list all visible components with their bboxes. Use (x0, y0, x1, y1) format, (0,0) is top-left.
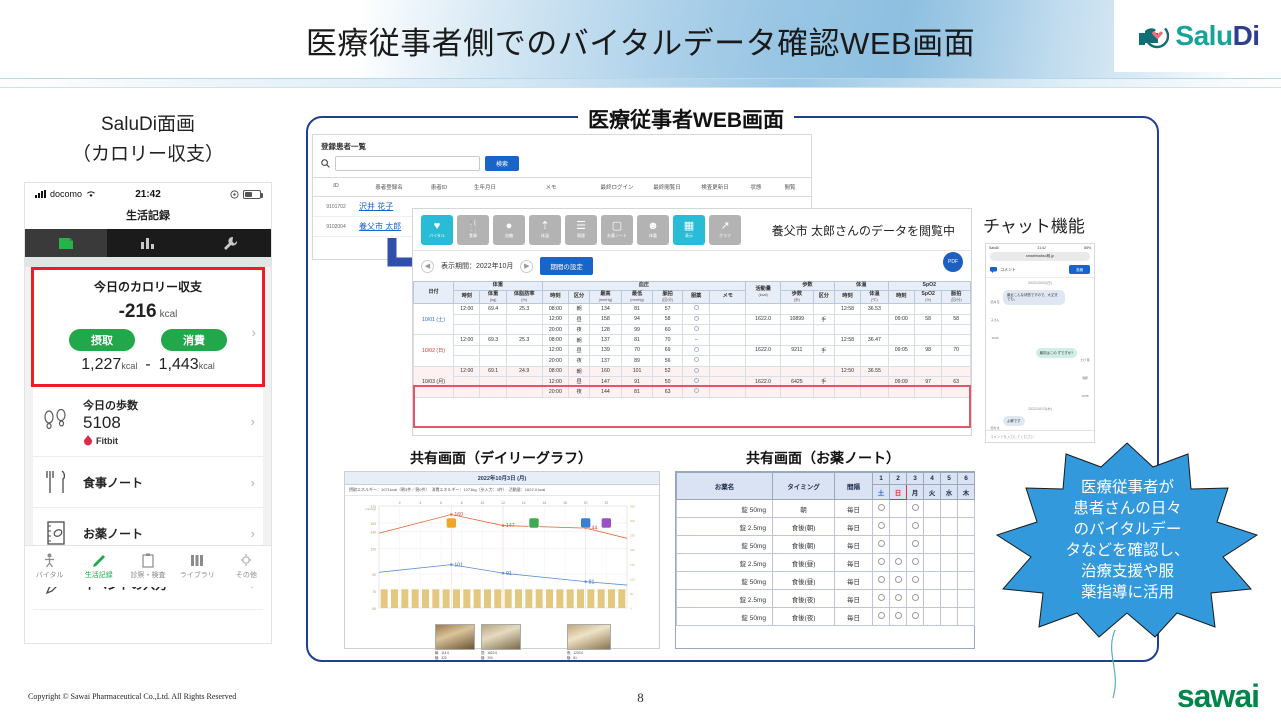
svg-text:300: 300 (630, 519, 635, 523)
cell-spo2: 97 (914, 376, 941, 386)
period-label: 表示期間：2022年10月 (441, 261, 513, 271)
cell-activity (746, 304, 781, 314)
phone-title-line1: SaluDi面画 (24, 110, 272, 140)
table-row: 錠 50mg食後(朝)毎日 (677, 536, 975, 554)
col-bp-high: 最高(mmHg) (590, 290, 622, 303)
flame-icon (83, 435, 93, 446)
medicine-note-title: 共有画面（お薬ノート） (746, 448, 900, 468)
medicine-table: お薬名 タイミング 間隔 1 2 3 4 5 6 土 日 月 火 水 木 錠 5… (676, 472, 975, 626)
svg-text:14: 14 (522, 501, 526, 505)
svg-text:50: 50 (372, 607, 376, 611)
vitals-table-body: 10/01 (土)12:0069.425.308:00朝134815712:58… (414, 304, 971, 397)
svg-text:12: 12 (501, 501, 505, 505)
table-row: 10/01 (土)12:0069.425.308:00朝134815712:58… (414, 304, 971, 314)
steps-label: 今日の歩数 (83, 400, 138, 412)
chat-section-title: チャット機能 (983, 212, 1085, 237)
cell-bp-high: 158 (590, 314, 622, 324)
meal-photo[interactable] (435, 624, 475, 650)
vitals-group-header-row: 日付 体重 血圧 活動量(kcal) 歩数 体温 SpO2 (414, 282, 971, 291)
svg-text:10: 10 (480, 501, 484, 505)
col-day-3: 3 (907, 473, 924, 485)
cell-dose-mark (890, 608, 907, 626)
svg-text:150: 150 (630, 563, 635, 567)
cell-dose-mark (907, 500, 924, 518)
cell-dose-mark (924, 608, 941, 626)
medicine-table-body: 錠 50mg朝毎日錠 2.5mg食後(朝)毎日錠 50mg食後(朝)毎日錠 2.… (677, 500, 975, 626)
hand-heart-icon (1135, 19, 1169, 53)
patient-list-title: 登録患者一覧 (313, 135, 811, 156)
cell-spo2: 98 (914, 345, 941, 355)
cell-steps: 10899 (781, 314, 814, 324)
cell-spo2 (914, 325, 941, 335)
svg-text:(mmHg): (mmHg) (365, 507, 376, 511)
cell-bp-time: 12:00 (542, 376, 568, 386)
col-memo: メモ (710, 290, 746, 303)
col-group-weight: 体重 (454, 282, 543, 291)
cell-bp-low: 81 (621, 335, 653, 345)
cell-bp-time: 08:00 (542, 304, 568, 314)
cell-weight (480, 314, 506, 324)
cell-spo2-time (888, 325, 914, 335)
cell-bp-high: 147 (590, 376, 622, 386)
cell-spo2-time (888, 335, 914, 345)
cell-interval: 毎日 (835, 536, 873, 554)
cell-dose-mark (907, 536, 924, 554)
cell-spo2-time: 09:09 (888, 376, 914, 386)
cell-dose-mark (941, 554, 958, 572)
cell-dose-mark (958, 572, 975, 590)
col-day-6: 6 (958, 473, 975, 485)
table-row: 20:00夜1378956 (414, 356, 971, 366)
cell-dose-mark (907, 518, 924, 536)
cell-dose-mark (890, 554, 907, 572)
comment-icon (990, 267, 997, 273)
nav-item-exam[interactable]: 診察・検査 (123, 546, 172, 587)
cell-weight-time: 12:00 (454, 366, 480, 376)
cell-body-fat (506, 356, 542, 366)
col-pulse: 脈拍(回/分) (653, 290, 683, 303)
cell-dose-mark (924, 518, 941, 536)
col-bp-low: 最低(mmHg) (621, 290, 653, 303)
cell-dose-mark (924, 590, 941, 608)
cell-steps: 9211 (781, 345, 814, 355)
avatar: 沢井 花子さん10:00 (990, 290, 1000, 344)
meal-icon[interactable]: 🍴食事 (457, 215, 489, 245)
vitals-table: 日付 体重 血圧 活動量(kcal) 歩数 体温 SpO2 時刻 体重(kg) … (413, 281, 971, 398)
cell-temp (861, 387, 888, 397)
cell-dose-mark (958, 536, 975, 554)
battery-icon (243, 190, 261, 199)
cell-spo2-time: 09:05 (888, 345, 914, 355)
chat-send-button[interactable]: 投稿 (1069, 265, 1090, 274)
cell-pulse: 56 (653, 356, 683, 366)
cell-spo2-pulse (942, 356, 971, 366)
cell-medicine-name: 錠 50mg (677, 500, 773, 518)
svg-text:20: 20 (584, 501, 588, 505)
patient-name-link[interactable]: 沢井 花子 (359, 201, 393, 212)
cell-timing: 食後(昼) (773, 554, 835, 572)
cell-spo2 (914, 304, 941, 314)
cell-spo2-time (888, 387, 914, 397)
cell-memo (710, 356, 746, 366)
medicine-note-panel: お薬名 タイミング 間隔 1 2 3 4 5 6 土 日 月 火 水 木 錠 5… (675, 471, 975, 649)
svg-text:150: 150 (370, 522, 376, 526)
table-row: 20:00夜1289960 (414, 325, 971, 335)
chat-bubble: 最近こんな状態ですので、大丈夫でも。 (1003, 290, 1065, 305)
patient-list-header: ID 患者登録名 患者ID 生年月日 メモ 最終ログイン 最終閲覧日 検査更新日… (313, 177, 811, 197)
cell-weight (480, 325, 506, 335)
col-timing: タイミング (773, 473, 835, 500)
meal-photo[interactable] (567, 624, 611, 650)
col-day-4: 4 (924, 473, 941, 485)
patient-search-button[interactable]: 検索 (485, 156, 519, 171)
cell-body-fat: 25.3 (506, 304, 542, 314)
browser-url-bar[interactable]: smartimahso株.jp (990, 252, 1090, 261)
vital-icon[interactable]: ♥バイタル (421, 215, 453, 245)
cell-steps-kind (813, 335, 834, 345)
cell-medicine-name: 錠 50mg (677, 608, 773, 626)
cell-interval: 毎日 (835, 572, 873, 590)
cell-bp-high: 137 (590, 356, 622, 366)
day-name-thu: 木 (958, 485, 975, 500)
burn-value: 1,443kcal (159, 356, 215, 374)
cell-date: 10/02 (日) (414, 335, 454, 366)
cell-temp (861, 314, 888, 324)
callout-star: 医療従事者が 患者さんの日々 のバイタルデー タなどを確認し、 治療支援や服 薬… (985, 441, 1270, 639)
medicine-table-head: お薬名 タイミング 間隔 1 2 3 4 5 6 土 日 月 火 水 木 (677, 473, 975, 500)
cutlery-icon (41, 467, 71, 497)
sawai-logo: sawai (1177, 678, 1259, 715)
cell-weight-time (454, 387, 480, 397)
cell-bp-kind: 夜 (569, 387, 590, 397)
table-view-icon[interactable]: ▦表示 (673, 215, 705, 245)
cell-temp-time (834, 325, 860, 335)
cell-timing: 朝 (773, 500, 835, 518)
cell-temp: 36.55 (861, 366, 888, 376)
list-item-label: 食事ノート (83, 474, 239, 491)
burn-pill[interactable]: 消費 (161, 329, 227, 351)
cell-medicine-name: 錠 50mg (677, 572, 773, 590)
table-row: 錠 2.5mg食後(朝)毎日 (677, 518, 975, 536)
cell-steps (781, 325, 814, 335)
body-icon[interactable]: ☻体重 (637, 215, 669, 245)
cell-pulse: 60 (653, 325, 683, 335)
cell-dose-mark (941, 572, 958, 590)
svg-text:0: 0 (630, 607, 632, 611)
col-group-spo2: SpO2 (888, 282, 970, 291)
svg-text:4: 4 (419, 501, 421, 505)
cell-body-fat (506, 345, 542, 355)
vitals-table-head: 日付 体重 血圧 活動量(kcal) 歩数 体温 SpO2 時刻 体重(kg) … (414, 282, 971, 304)
steps-source: Fitbit (83, 435, 239, 446)
cell-body-fat: 25.3 (506, 335, 542, 345)
cell-bp-high: 139 (590, 345, 622, 355)
chevron-right-icon[interactable]: › (251, 475, 255, 490)
table-row: 10/03 (月)12:0069.124.908:00朝1601015212:5… (414, 366, 971, 376)
cell-dose-mark (941, 608, 958, 626)
cell-bp-high: 128 (590, 325, 622, 335)
cell-activity: 1622.0 (746, 314, 781, 324)
table-row: 20:00夜1448163 (414, 387, 971, 397)
chat-status-bar: SaluDi 21:42 85% (986, 244, 1094, 251)
cell-memo (710, 314, 746, 324)
list-item-meal-note[interactable]: 食事ノート › (33, 457, 263, 508)
intake-pill[interactable]: 摂取 (69, 329, 135, 351)
cell-memo (710, 335, 746, 345)
col-day-2: 2 (890, 473, 907, 485)
col-steps: 歩数(歩) (781, 290, 814, 303)
cell-spo2-pulse: 58 (942, 314, 971, 324)
cell-memo (710, 304, 746, 314)
svg-text:18: 18 (563, 501, 567, 505)
list-item-steps[interactable]: 今日の歩数 5108 Fitbit › (33, 387, 263, 457)
graph-date-header: 2022年10月3日 (月) (345, 472, 659, 485)
col-spo2: SpO2(%) (914, 290, 941, 303)
meal-photo[interactable] (481, 624, 521, 650)
cell-bp-low: 101 (621, 366, 653, 376)
header-banner: 医療従事者側でのバイタルデータ確認WEB画面 SaluDi (0, 0, 1281, 78)
patient-id: 9101702 (313, 204, 359, 210)
cell-dose-mark (890, 536, 907, 554)
cell-pulse: 57 (653, 304, 683, 314)
cell-timing: 食後(夜) (773, 590, 835, 608)
phone-section-title: SaluDi面画 （カロリー収支） (24, 110, 272, 170)
cell-temp-time: 12:50 (834, 366, 860, 376)
cell-spo2-time (888, 304, 914, 314)
cell-pulse: 70 (653, 335, 683, 345)
vitals-sub-header-row: 時刻 体重(kg) 体脂肪率(%) 時刻 区分 最高(mmHg) 最低(mmHg… (414, 290, 971, 303)
cell-weight-time (454, 314, 480, 324)
medicine-header-row: お薬名 タイミング 間隔 1 2 3 4 5 6 (677, 473, 975, 485)
cell-bp-time: 20:00 (542, 356, 568, 366)
col-day-1: 1 (873, 473, 890, 485)
page-title: 医療従事者側でのバイタルデータ確認WEB画面 (0, 18, 1281, 63)
svg-text:160: 160 (454, 512, 463, 518)
col-weight: 体重(kg) (480, 290, 506, 303)
cell-bp-time: 12:00 (542, 314, 568, 324)
cell-spo2-time (888, 366, 914, 376)
calorie-values: 1,227kcal - 1,443kcal (44, 356, 252, 374)
cell-steps-kind (813, 356, 834, 366)
chevron-right-icon[interactable]: › (251, 526, 255, 541)
cell-medication (682, 387, 709, 397)
table-row: 12:00昼15894581622.010899手09:005858 (414, 314, 971, 324)
search-icon (321, 159, 330, 168)
cell-memo (710, 376, 746, 386)
cell-bp-low: 94 (621, 314, 653, 324)
cell-activity: 1622.0 (746, 376, 781, 386)
svg-text:2: 2 (399, 501, 401, 505)
cell-dose-mark (873, 590, 890, 608)
cell-medication (682, 325, 709, 335)
nav-item-life-record[interactable]: 生活記録 (74, 546, 123, 587)
cell-date: 10/03 (月) (414, 366, 454, 397)
cell-dose-mark (941, 500, 958, 518)
blood-sugar-icon[interactable]: ●血糖 (493, 215, 525, 245)
nav-item-library[interactable]: ライブラリ (173, 546, 222, 587)
col-bp-kind: 区分 (569, 290, 590, 303)
cell-medicine-name: 錠 2.5mg (677, 590, 773, 608)
viewing-patient-label: 養父市 太郎さんのデータを閲覧中 (772, 222, 965, 239)
cell-bp-high: 137 (590, 335, 622, 345)
cell-timing: 食後(朝) (773, 518, 835, 536)
day-name-tue: 火 (924, 485, 941, 500)
cell-bp-low: 91 (621, 376, 653, 386)
cell-dose-mark (890, 590, 907, 608)
comment-label: コメント (1000, 267, 1066, 273)
svg-text:147: 147 (506, 523, 515, 529)
cell-spo2-time: 09:00 (888, 314, 914, 324)
period-selector-bar: ◀ 表示期間：2022年10月 ▶ 期間の設定 PDF (413, 251, 971, 281)
table-row: 錠 50mg食後(昼)毎日 (677, 572, 975, 590)
svg-text:6: 6 (440, 501, 442, 505)
patient-id: 9102004 (313, 224, 359, 230)
cell-dose-mark (907, 608, 924, 626)
period-settings-button[interactable]: 期間の設定 (540, 257, 593, 275)
chevron-right-icon[interactable]: › (251, 414, 255, 429)
cell-medicine-name: 錠 50mg (677, 536, 773, 554)
cell-temp (861, 376, 888, 386)
svg-text:350: 350 (630, 505, 635, 509)
phone-bottom-nav: バイタル 生活記録 診察・検査 ライブラリ その他 (25, 545, 271, 587)
footsteps-icon (41, 407, 71, 437)
graph-summary: 摂取エネルギー：1071kcal（朝3件／昼0件） 消費エネルギー：1271kg… (345, 485, 659, 496)
patient-name-link[interactable]: 養父市 太郎 (359, 221, 401, 232)
cell-body-fat: 24.9 (506, 366, 542, 376)
svg-text:200: 200 (630, 548, 635, 552)
cell-dose-mark (873, 500, 890, 518)
cell-pulse: 58 (653, 314, 683, 324)
medicine-note-icon[interactable]: ▢お薬ノート (601, 215, 633, 245)
graph-view-icon[interactable]: ↗グラフ (709, 215, 741, 245)
cell-steps-kind (813, 387, 834, 397)
cell-bp-kind: 昼 (569, 376, 590, 386)
cell-weight: 69.4 (480, 304, 506, 314)
day-name-sun: 日 (890, 485, 907, 500)
patient-search-input[interactable] (335, 156, 480, 171)
col-group-bp: 血圧 (542, 282, 746, 291)
phone-content: 今日のカロリー収支 -216kcal 摂取 消費 1,227kcal - 1,4… (25, 257, 271, 587)
cell-steps (781, 304, 814, 314)
day-name-sat: 土 (873, 485, 890, 500)
cell-dose-mark (907, 590, 924, 608)
cell-steps-kind: 手 (813, 314, 834, 324)
meal-photo-caption: 夜：1230.0糖：81 (567, 650, 613, 660)
cell-weight (480, 356, 506, 366)
day-name-wed: 水 (941, 485, 958, 500)
carrier-info: docomo (35, 189, 110, 199)
chevron-right-icon[interactable]: ▶ (520, 260, 533, 273)
svg-text:70: 70 (372, 590, 376, 594)
cell-dose-mark (958, 518, 975, 536)
graph-meal-photos: 朝：114.0糖：320 昼：1622.0糖：200 夜：1230.0糖：81 (345, 626, 659, 658)
nav-item-vital[interactable]: バイタル (25, 546, 74, 587)
cell-medication (682, 314, 709, 324)
nav-item-other[interactable]: その他 (222, 546, 271, 587)
svg-text:140: 140 (370, 531, 376, 535)
avatar: たけ 薬剤師13:55 (1080, 348, 1090, 402)
cell-memo (710, 387, 746, 397)
page-number: 8 (0, 690, 1281, 706)
cell-dose-mark (890, 572, 907, 590)
cell-weight (480, 345, 506, 355)
calorie-card-title: 今日のカロリー収支 (44, 278, 252, 295)
tab-chart[interactable] (107, 229, 189, 257)
calorie-pills: 摂取 消費 (44, 329, 252, 351)
cell-bp-high: 134 (590, 304, 622, 314)
cell-dose-mark (958, 590, 975, 608)
svg-text:50: 50 (630, 592, 634, 596)
cell-dose-mark (873, 518, 890, 536)
cell-weight: 69.3 (480, 335, 506, 345)
cell-dose-mark (924, 554, 941, 572)
cell-steps-kind (813, 304, 834, 314)
cell-dose-mark (907, 572, 924, 590)
svg-text:101: 101 (454, 562, 463, 568)
tab-settings[interactable] (189, 229, 271, 257)
chevron-right-icon[interactable]: › (252, 325, 256, 340)
cell-medication (682, 376, 709, 386)
record-icon[interactable]: ☰喫煙 (565, 215, 597, 245)
col-spo2-pulse: 脈拍(回/分) (942, 290, 971, 303)
svg-text:91: 91 (506, 571, 512, 577)
cell-timing: 食後(昼) (773, 572, 835, 590)
tab-life-record[interactable] (25, 229, 107, 257)
list-item-label: お薬ノート (83, 525, 239, 542)
chat-comment-bar: コメント 投稿 (986, 262, 1094, 278)
cell-dose-mark (958, 500, 975, 518)
cell-steps-kind: 手 (813, 345, 834, 355)
chat-bubble: よ解です (1003, 416, 1025, 426)
pdf-export-button[interactable]: PDF (943, 252, 963, 272)
chevron-left-icon[interactable]: ◀ (421, 260, 434, 273)
col-weight-time: 時刻 (454, 290, 480, 303)
cell-interval: 毎日 (835, 590, 873, 608)
cell-dose-mark (941, 518, 958, 536)
cell-interval: 毎日 (835, 518, 873, 536)
cell-spo2 (914, 366, 941, 376)
cell-bp-high: 144 (590, 387, 622, 397)
cell-pulse: 63 (653, 387, 683, 397)
cell-bp-time: 08:00 (542, 366, 568, 376)
thermometer-icon[interactable]: ⇡体温 (529, 215, 561, 245)
cell-dose-mark (958, 554, 975, 572)
cell-temp-time (834, 376, 860, 386)
cell-medication (682, 356, 709, 366)
cell-dose-mark (958, 608, 975, 626)
cell-bp-low: 99 (621, 325, 653, 335)
calorie-balance-card[interactable]: 今日のカロリー収支 -216kcal 摂取 消費 1,227kcal - 1,4… (31, 267, 265, 387)
col-group-temp: 体温 (834, 282, 888, 291)
table-row: 錠 2.5mg食後(昼)毎日 (677, 554, 975, 572)
cell-spo2: 58 (914, 314, 941, 324)
cell-spo2 (914, 387, 941, 397)
col-group-date: 日付 (414, 282, 454, 304)
cell-date: 10/01 (土) (414, 304, 454, 335)
svg-text:250: 250 (630, 534, 635, 538)
status-time: 21:42 (110, 189, 185, 200)
signal-icon (35, 190, 46, 198)
col-temp: 体温(℃) (861, 290, 888, 303)
cell-bp-low: 81 (621, 387, 653, 397)
cell-bp-low: 70 (621, 345, 653, 355)
cell-bp-kind: 朝 (569, 304, 590, 314)
cell-dose-mark (890, 500, 907, 518)
col-medication: 服薬 (682, 290, 709, 303)
cell-bp-kind: 昼 (569, 345, 590, 355)
calorie-net: -216kcal (44, 301, 252, 323)
calorie-net-unit: kcal (160, 309, 178, 320)
